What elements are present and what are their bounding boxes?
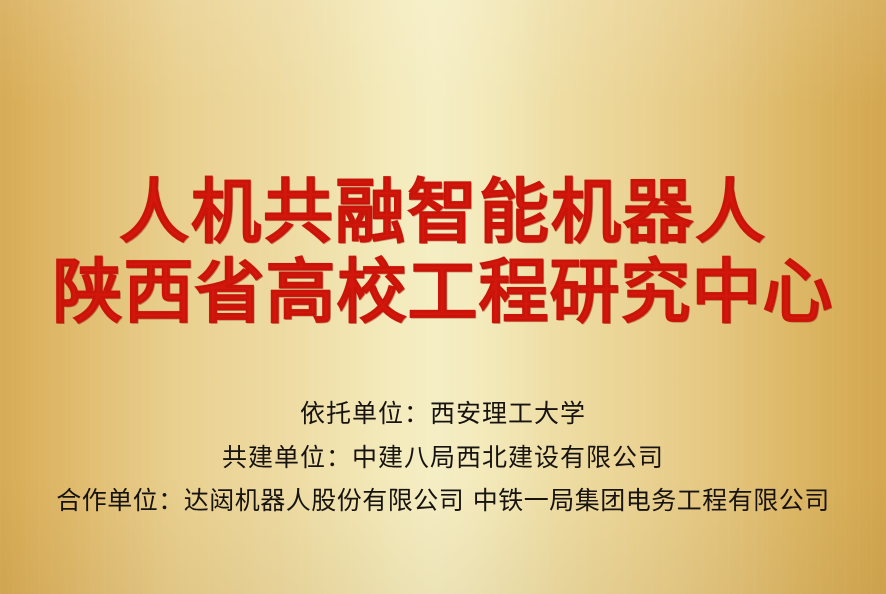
plaque-title-line-2: 陕西省高校工程研究中心 [0, 252, 886, 332]
plaque-title-block: 人机共融智能机器人 陕西省高校工程研究中心 [0, 172, 886, 332]
credit-line-partners: 合作单位：达闼机器人股份有限公司 中铁一局集团电务工程有限公司 [0, 479, 886, 522]
credit-line-host-institution: 依托单位：西安理工大学 [0, 392, 886, 436]
award-plaque: 人机共融智能机器人 陕西省高校工程研究中心 依托单位：西安理工大学 共建单位：中… [0, 0, 886, 594]
plaque-content: 人机共融智能机器人 陕西省高校工程研究中心 依托单位：西安理工大学 共建单位：中… [0, 0, 886, 594]
plaque-credits-block: 依托单位：西安理工大学 共建单位：中建八局西北建设有限公司 合作单位：达闼机器人… [0, 392, 886, 522]
credit-line-co-builder: 共建单位：中建八局西北建设有限公司 [0, 436, 886, 479]
plaque-title-line-1: 人机共融智能机器人 [0, 172, 886, 252]
